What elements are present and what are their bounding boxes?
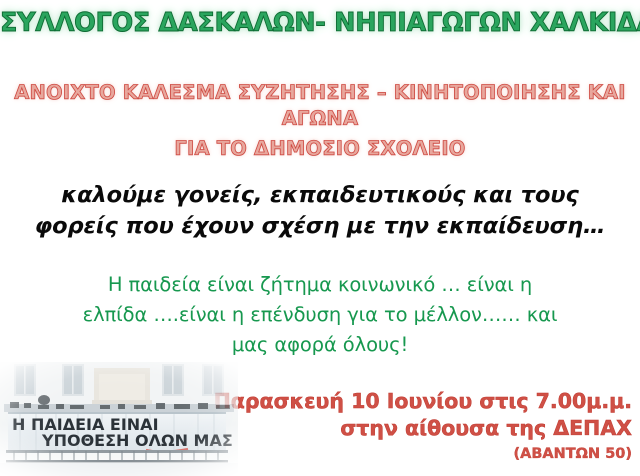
- message-text: Η παιδεία είναι ζήτημα κοινωνικό … είναι…: [40, 270, 600, 360]
- call-heading-line-2: ΑΓΩΝΑ: [0, 106, 640, 132]
- invitation-line-2: φορείς που έχουν σχέση με την εκπαίδευση…: [30, 211, 610, 242]
- event-datetime: Παρασκευή 10 Ιουνίου στις 7.00μ.μ.: [202, 388, 632, 415]
- invitation-line-1: καλούμε γονείς, εκπαιδευτικούς και τους: [30, 180, 610, 211]
- poster-canvas: ΣΥΛΛΟΓΟΣ ΔΑΣΚΑΛΩΝ- ΝΗΠΙΑΓΩΓΩΝ ΧΑΛΚΙΔΑΣ Α…: [0, 0, 640, 476]
- message-line-1: Η παιδεία είναι ζήτημα κοινωνικό … είναι…: [40, 270, 600, 300]
- message-line-3: μας αφορά όλους!: [40, 330, 600, 360]
- call-heading-line-3: ΓΙΑ ΤΟ ΔΗΜΟΣΙΟ ΣΧΟΛΕΙΟ: [0, 136, 640, 162]
- protest-banner-photo: Η ΠΑΙΔΕΙΑ ΕΙΝΑΙ ΥΠΟΘΕΣΗ ΟΛΩΝ ΜΑΣ: [0, 362, 238, 476]
- call-heading: ΑΝΟΙΧΤΟ ΚΑΛΕΣΜΑ ΣΥΖΗΤΗΣΗΣ – ΚΙΝΗΤΟΠΟΙΗΣΗ…: [0, 80, 640, 162]
- event-address: (ΑΒΑΝΤΩΝ 50): [202, 443, 632, 465]
- call-heading-line-1: ΑΝΟΙΧΤΟ ΚΑΛΕΣΜΑ ΣΥΖΗΤΗΣΗΣ – ΚΙΝΗΤΟΠΟΙΗΣΗ…: [0, 80, 640, 106]
- invitation-text: καλούμε γονείς, εκπαιδευτικούς και τους …: [30, 180, 610, 242]
- message-line-2: ελπίδα ….είναι η επένδυση για το μέλλον……: [40, 300, 600, 330]
- banner-text-line-2: ΥΠΟΘΕΣΗ ΟΛΩΝ ΜΑΣ: [41, 431, 233, 450]
- organization-title: ΣΥΛΛΟΓΟΣ ΔΑΣΚΑΛΩΝ- ΝΗΠΙΑΓΩΓΩΝ ΧΑΛΚΙΔΑΣ: [0, 9, 640, 38]
- event-venue: στην αίθουσα της ΔΕΠΑΧ: [202, 415, 632, 442]
- protest-banner-photo-graphic: Η ΠΑΙΔΕΙΑ ΕΙΝΑΙ ΥΠΟΘΕΣΗ ΟΛΩΝ ΜΑΣ: [0, 362, 238, 476]
- event-details: Παρασκευή 10 Ιουνίου στις 7.00μ.μ. στην …: [202, 388, 632, 465]
